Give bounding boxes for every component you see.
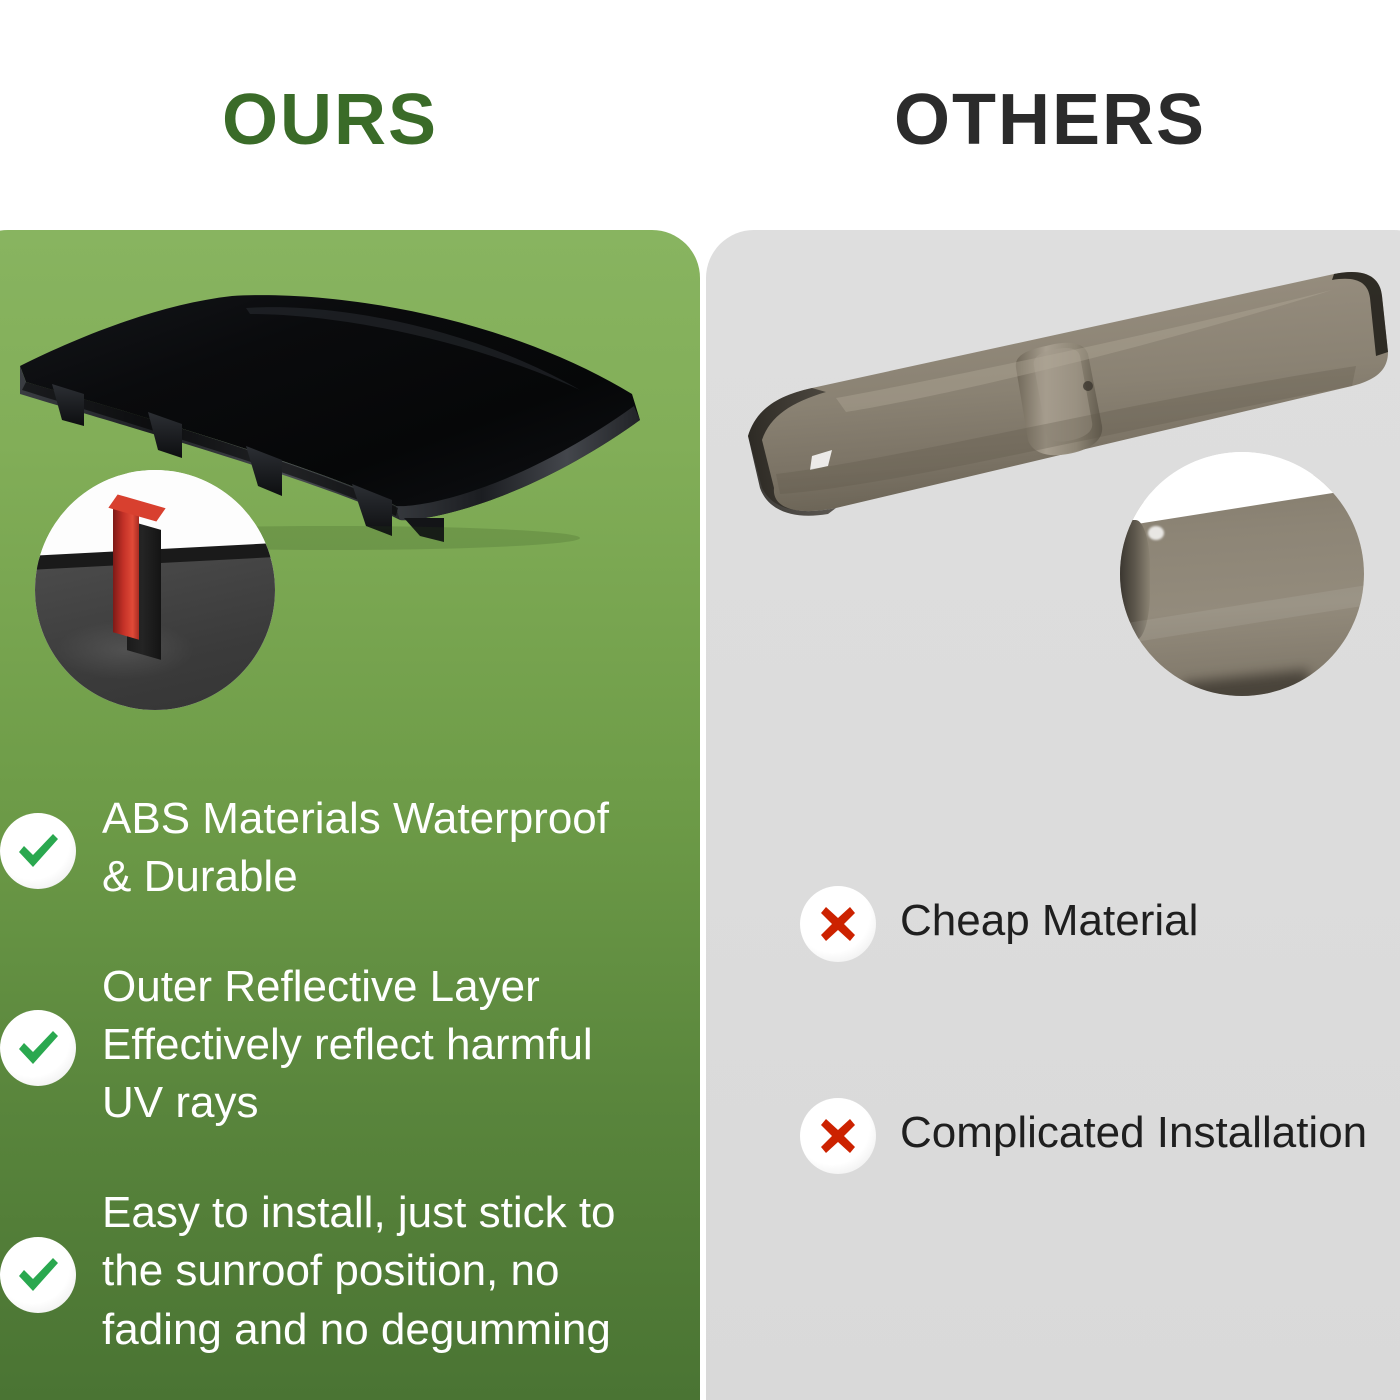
cross-icon-glyph — [816, 902, 860, 946]
feature-item: Outer Reflective Layer Effectively refle… — [0, 958, 660, 1132]
feature-label: ABS Materials Waterproof & Durable — [102, 790, 647, 906]
cross-icon-glyph — [816, 1114, 860, 1158]
inset-closeup-others — [1120, 452, 1364, 696]
panel-others: Cheap Material Complicated Installation — [706, 230, 1400, 1400]
check-icon-glyph — [12, 825, 64, 877]
check-icon-glyph — [12, 1249, 64, 1301]
check-icon — [0, 1237, 76, 1313]
comparison-headings: OURS OTHERS — [0, 0, 1400, 230]
check-icon — [0, 1010, 76, 1086]
feature-item: ABS Materials Waterproof & Durable — [0, 790, 660, 906]
inset-closeup-ours — [35, 470, 275, 710]
check-icon — [0, 813, 76, 889]
feature-label: Cheap Material — [900, 893, 1198, 949]
feature-list-ours: ABS Materials Waterproof & Durable Outer… — [0, 790, 660, 1359]
feature-label: Complicated Installation — [900, 1105, 1367, 1161]
feature-item: Cheap Material — [800, 880, 1400, 962]
feature-item: Complicated Installation — [800, 1092, 1400, 1174]
feature-label: Outer Reflective Layer Effectively refle… — [102, 958, 647, 1132]
cross-icon — [800, 1098, 876, 1174]
inset-red-adhesive-tape — [113, 504, 139, 639]
check-icon-glyph — [12, 1022, 64, 1074]
page-title-others: OTHERS — [700, 84, 1400, 156]
feature-item: Easy to install, just stick to the sunro… — [0, 1184, 660, 1358]
feature-label: Easy to install, just stick to the sunro… — [102, 1184, 647, 1358]
cross-icon — [800, 886, 876, 962]
panel-ours: ABS Materials Waterproof & Durable Outer… — [0, 230, 700, 1400]
page-title-ours: OURS — [0, 84, 660, 156]
feature-list-others: Cheap Material Complicated Installation — [800, 880, 1400, 1174]
inset-specular-highlight — [1148, 526, 1164, 540]
